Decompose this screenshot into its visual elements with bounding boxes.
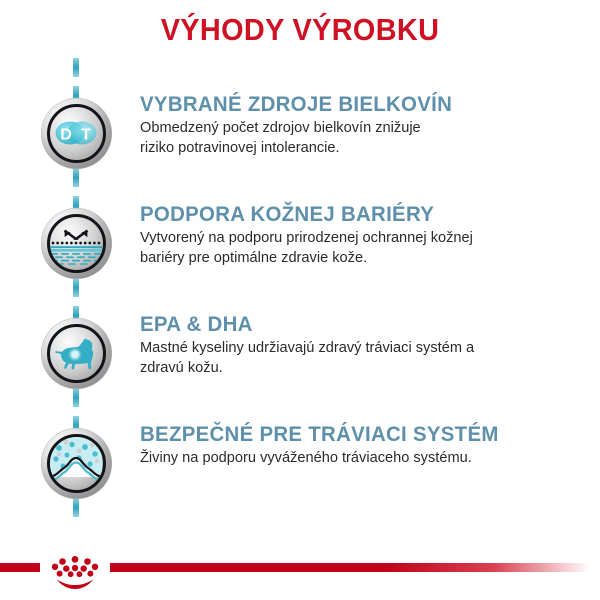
svg-text:T: T <box>81 127 91 144</box>
product-benefits-infographic: VÝHODY VÝROBKU <box>0 0 600 600</box>
benefit-heading: PODPORA KOŽNEJ BARIÉRY <box>140 202 568 226</box>
page-title: VÝHODY VÝROBKU <box>21 12 579 48</box>
footer <box>0 540 600 600</box>
svg-text:D: D <box>60 127 72 144</box>
benefit-row: PODPORA KOŽNEJ BARIÉRY Vytvorený na podp… <box>0 188 600 298</box>
skin-barrier-icon <box>41 208 112 279</box>
footer-band-right <box>110 563 590 572</box>
benefit-heading: VYBRANÉ ZDROJE BIELKOVÍN <box>140 92 568 116</box>
benefit-text: BEZPEČNÉ PRE TRÁVIACI SYSTÉM Živiny na p… <box>140 422 590 469</box>
royal-canin-crown-logo <box>42 548 108 590</box>
benefit-body: Živiny na podporu vyváženého tráviaceho … <box>140 449 590 469</box>
dog-epa-dha-icon <box>41 318 112 389</box>
benefit-body: Obmedzený počet zdrojov bielkovín znižuj… <box>140 119 590 158</box>
protein-sources-venn-icon: D T <box>41 98 112 169</box>
benefit-row: EPA & DHA Mastné kyseliny udržiavajú zdr… <box>0 298 600 408</box>
benefit-text: EPA & DHA Mastné kyseliny udržiavajú zdr… <box>140 312 590 378</box>
benefit-heading: BEZPEČNÉ PRE TRÁVIACI SYSTÉM <box>140 422 568 446</box>
benefit-body: Mastné kyseliny udržiavajú zdravý trávia… <box>140 339 590 378</box>
benefit-row: BEZPEČNÉ PRE TRÁVIACI SYSTÉM Živiny na p… <box>0 408 600 518</box>
footer-band-left <box>0 563 40 572</box>
digestive-safety-icon <box>41 428 112 499</box>
benefit-text: VYBRANÉ ZDROJE BIELKOVÍN Obmedzený počet… <box>140 92 590 158</box>
benefit-body: Vytvorený na podporu prirodzenej ochrann… <box>140 229 590 268</box>
benefit-text: PODPORA KOŽNEJ BARIÉRY Vytvorený na podp… <box>140 202 590 268</box>
benefit-heading: EPA & DHA <box>140 312 568 336</box>
benefit-row: D T VYBRANÉ ZDROJE BIELKOVÍN Obmedzený p… <box>0 78 600 188</box>
connector-dash <box>73 58 79 77</box>
